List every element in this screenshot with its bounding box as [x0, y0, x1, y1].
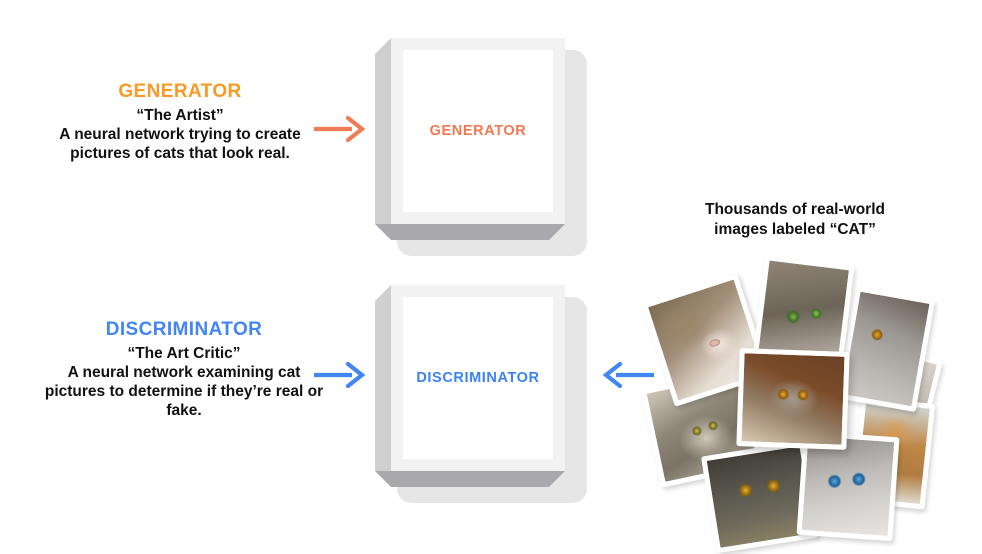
generator-nickname: “The Artist”: [40, 107, 320, 126]
discriminator-box-inner: DISCRIMINATOR: [403, 297, 553, 459]
discriminator-nickname: “The Art Critic”: [38, 345, 330, 364]
generator-box: GENERATOR: [375, 28, 587, 256]
cat-photo-image: [802, 436, 894, 536]
generator-title: GENERATOR: [40, 80, 320, 103]
diagram-canvas: GENERATOR “The Artist” A neural network …: [0, 0, 982, 549]
generator-box-inner: GENERATOR: [403, 50, 553, 212]
discriminator-description: A neural network examining cat pictures …: [38, 364, 330, 421]
generator-arrow: [312, 112, 368, 151]
discriminator-box-bottom-face: [375, 471, 565, 487]
cat-photo-collage: [650, 258, 920, 508]
discriminator-description-block: DISCRIMINATOR “The Art Critic” A neural …: [38, 318, 330, 421]
generator-box-left-face: [375, 38, 391, 224]
generator-box-label: GENERATOR: [430, 123, 527, 139]
discriminator-arrow: [312, 358, 368, 397]
discriminator-box-label: DISCRIMINATOR: [416, 370, 539, 386]
generator-description: A neural network trying to create pictur…: [40, 126, 320, 164]
discriminator-box-left-face: [375, 285, 391, 471]
cat-photo-image: [741, 353, 844, 444]
generator-box-front-face: GENERATOR: [391, 38, 565, 224]
discriminator-title: DISCRIMINATOR: [38, 318, 330, 341]
generator-box-bottom-face: [375, 224, 565, 240]
dataset-caption-line2: images labeled “CAT”: [664, 220, 926, 240]
dataset-arrow-icon: [600, 358, 656, 392]
discriminator-arrow-icon: [312, 358, 368, 392]
generator-description-block: GENERATOR “The Artist” A neural network …: [40, 80, 320, 164]
cat-photo-center: [736, 348, 849, 450]
discriminator-box: DISCRIMINATOR: [375, 275, 587, 503]
generator-arrow-icon: [312, 112, 368, 146]
dataset-caption-line1: Thousands of real-world: [664, 200, 926, 220]
discriminator-box-front-face: DISCRIMINATOR: [391, 285, 565, 471]
cat-photo-image: [843, 292, 930, 407]
dataset-caption: Thousands of real-world images labeled “…: [664, 200, 926, 239]
